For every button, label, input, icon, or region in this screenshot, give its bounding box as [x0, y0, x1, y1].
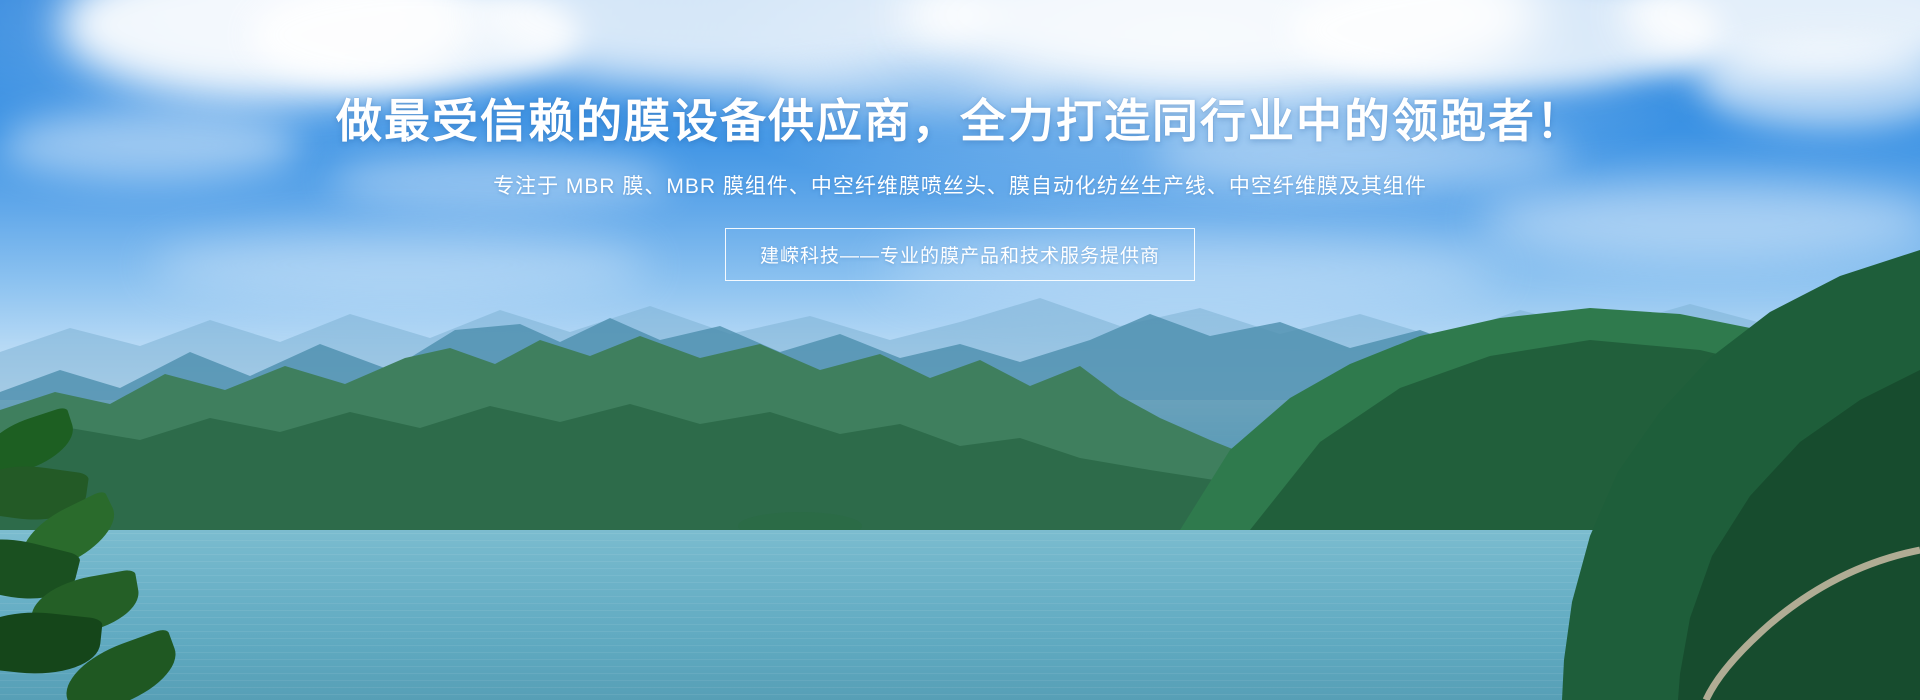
foreground-foliage	[0, 400, 200, 700]
cloud-shape	[1480, 180, 1920, 260]
right-foreground-hill	[1300, 250, 1920, 700]
cloud-shape	[760, 60, 1060, 115]
cloud-shape	[330, 150, 670, 210]
cloud-shape	[0, 110, 300, 180]
hero-banner: 做最受信赖的膜设备供应商，全力打造同行业中的领跑者！ 专注于 MBR 膜、MBR…	[0, 0, 1920, 700]
banner-tagline-box[interactable]: 建嵘科技——专业的膜产品和技术服务提供商	[725, 228, 1195, 281]
cloud-shape	[1150, 120, 1570, 190]
